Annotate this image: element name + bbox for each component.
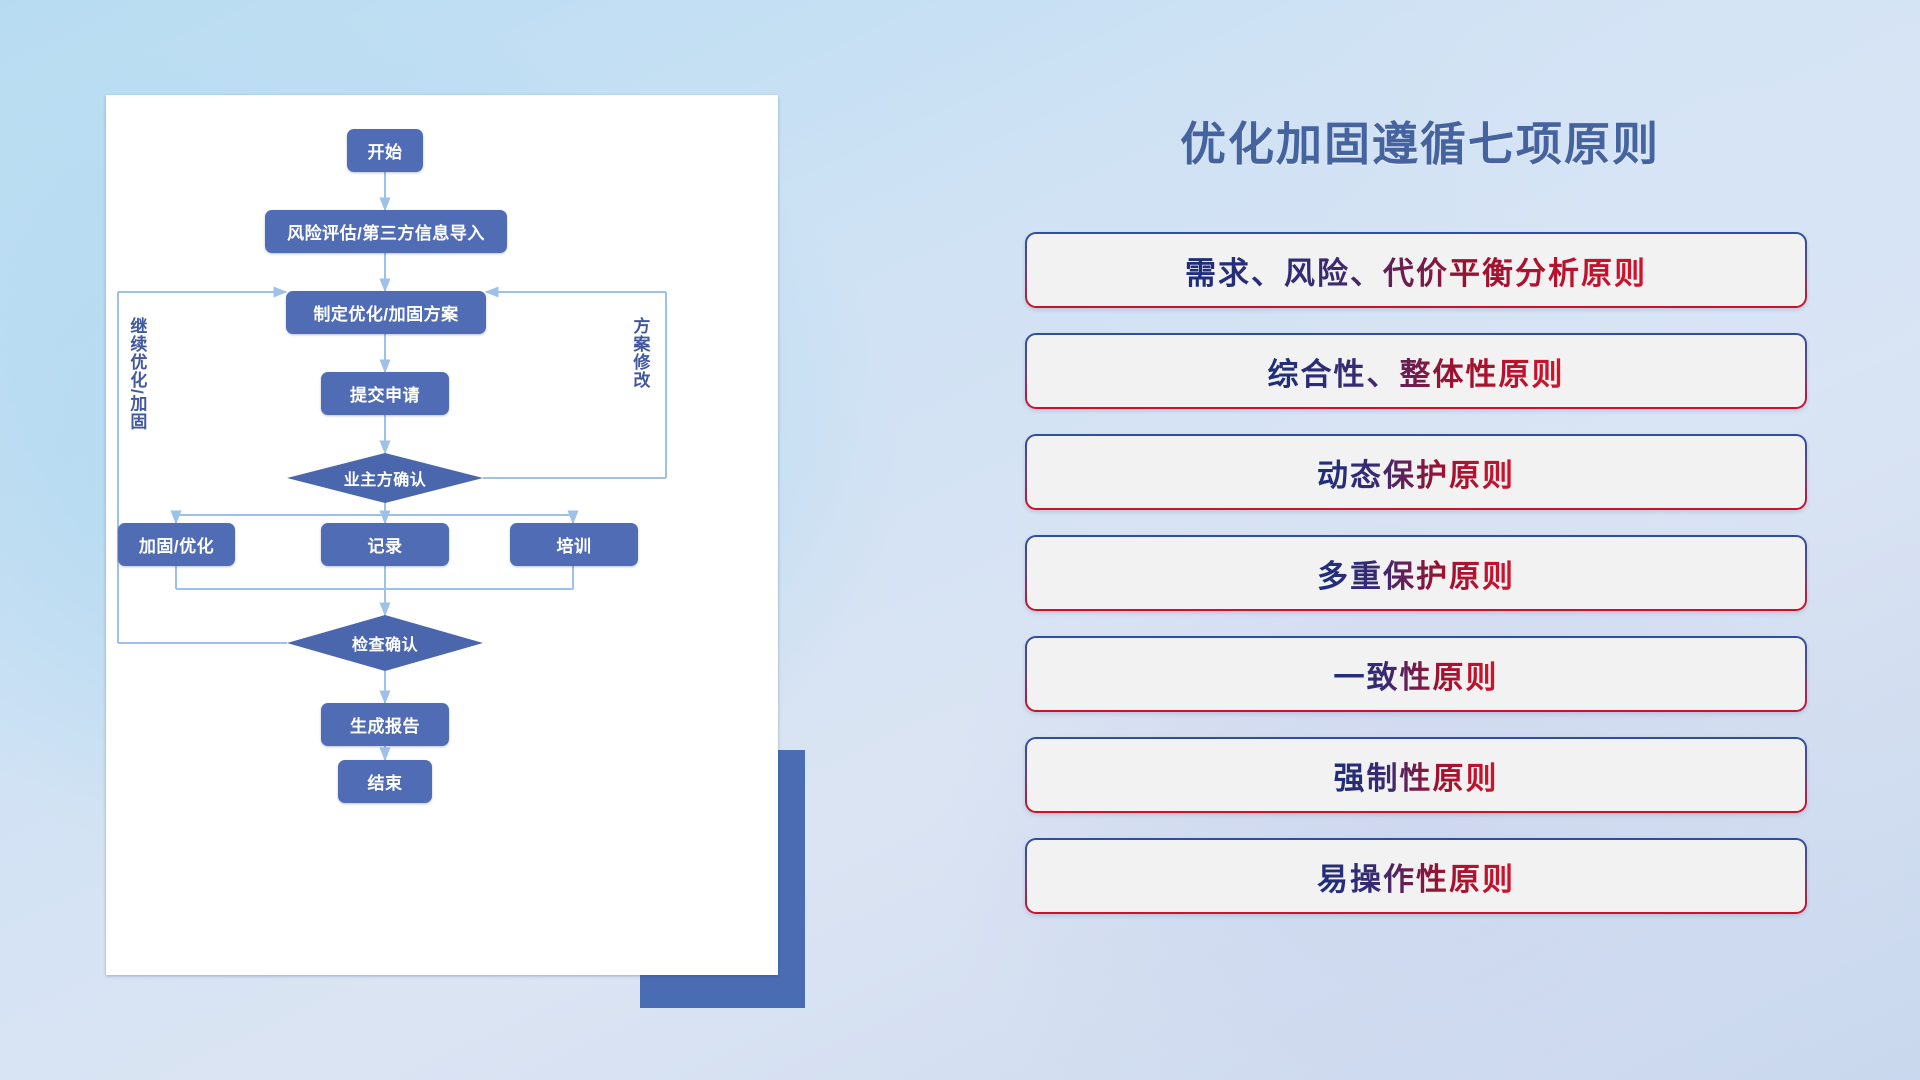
principle-label: 多重保护原则	[1317, 551, 1515, 596]
principle-label: 动态保护原则	[1317, 450, 1515, 495]
flow-node-label: 开始	[368, 138, 403, 163]
flow-node-label: 风险评估/第三方信息导入	[287, 219, 485, 244]
page-title: 优化加固遵循七项原则	[1025, 108, 1815, 174]
flow-node-label: 结束	[368, 769, 403, 794]
principle-item-inner: 强制性原则	[1027, 739, 1805, 811]
principle-item-inner: 需求、风险、代价平衡分析原则	[1027, 234, 1805, 306]
flow-node-submit-application[interactable]: 提交申请	[321, 372, 449, 415]
principle-label: 易操作性原则	[1317, 854, 1515, 899]
flowchart: 开始 风险评估/第三方信息导入 制定优化/加固方案 提交申请 业主方确认 加固/…	[106, 95, 778, 975]
principle-label: 强制性原则	[1334, 753, 1499, 798]
flow-node-label: 检查确认	[287, 615, 483, 671]
principle-item-inner: 综合性、整体性原则	[1027, 335, 1805, 407]
principle-item[interactable]: 多重保护原则	[1025, 535, 1807, 611]
edge-label-continue-optimize: 继续优化/加固	[128, 317, 145, 462]
flow-node-risk-assessment[interactable]: 风险评估/第三方信息导入	[265, 210, 507, 253]
principle-item[interactable]: 需求、风险、代价平衡分析原则	[1025, 232, 1807, 308]
flow-node-label: 记录	[368, 532, 403, 557]
principle-item[interactable]: 易操作性原则	[1025, 838, 1807, 914]
flow-node-reinforce-optimize[interactable]: 加固/优化	[118, 523, 235, 566]
flow-node-start[interactable]: 开始	[347, 129, 423, 172]
flowchart-card: 开始 风险评估/第三方信息导入 制定优化/加固方案 提交申请 业主方确认 加固/…	[106, 95, 778, 975]
flow-node-training[interactable]: 培训	[510, 523, 638, 566]
principle-item-inner: 动态保护原则	[1027, 436, 1805, 508]
flow-node-end[interactable]: 结束	[338, 760, 432, 803]
slide-root: 开始 风险评估/第三方信息导入 制定优化/加固方案 提交申请 业主方确认 加固/…	[0, 0, 1920, 1080]
flow-decision-owner-confirm[interactable]: 业主方确认	[287, 453, 483, 503]
flow-node-label: 提交申请	[350, 381, 420, 406]
flow-node-generate-report[interactable]: 生成报告	[321, 703, 449, 746]
flow-node-record[interactable]: 记录	[321, 523, 449, 566]
flow-node-plan[interactable]: 制定优化/加固方案	[286, 291, 486, 334]
principles-list: 需求、风险、代价平衡分析原则 综合性、整体性原则 动态保护原则 多重保护原则 一…	[1025, 232, 1807, 939]
principle-item[interactable]: 综合性、整体性原则	[1025, 333, 1807, 409]
principle-item-inner: 一致性原则	[1027, 638, 1805, 710]
principle-item[interactable]: 动态保护原则	[1025, 434, 1807, 510]
flow-node-label: 培训	[557, 532, 592, 557]
flow-node-label: 制定优化/加固方案	[313, 300, 458, 325]
principle-label: 综合性、整体性原则	[1268, 349, 1565, 394]
principle-item[interactable]: 强制性原则	[1025, 737, 1807, 813]
principle-item-inner: 多重保护原则	[1027, 537, 1805, 609]
edge-label-plan-revision: 方案修改	[631, 317, 648, 427]
principle-label: 一致性原则	[1334, 652, 1499, 697]
principle-label: 需求、风险、代价平衡分析原则	[1185, 248, 1647, 293]
flow-node-label: 生成报告	[350, 712, 420, 737]
flow-node-label: 业主方确认	[287, 453, 483, 503]
principle-item-inner: 易操作性原则	[1027, 840, 1805, 912]
flow-decision-inspection-confirm[interactable]: 检查确认	[287, 615, 483, 671]
principle-item[interactable]: 一致性原则	[1025, 636, 1807, 712]
flow-node-label: 加固/优化	[139, 532, 214, 557]
